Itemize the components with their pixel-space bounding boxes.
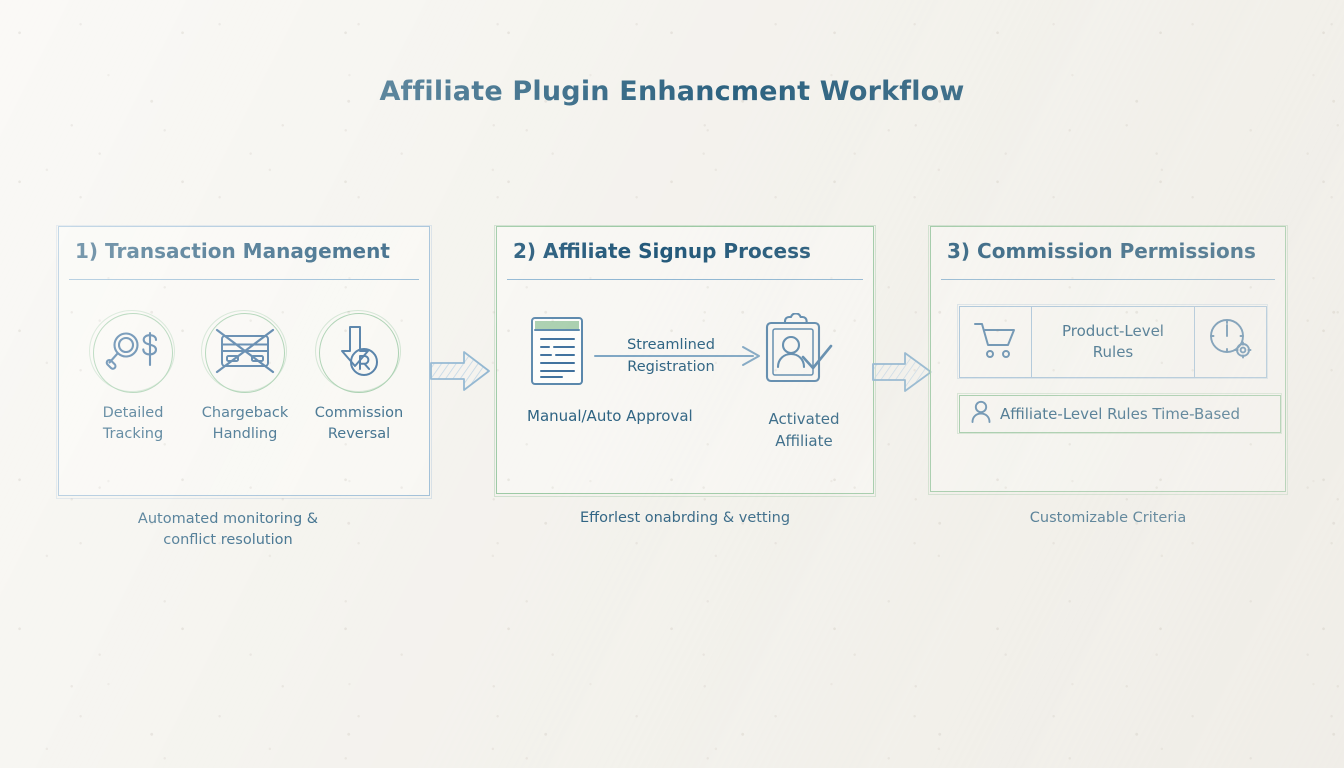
shopping-cart-icon [973, 320, 1019, 364]
icon-badge [93, 313, 173, 393]
panel-title: 3) Commission Permissions [947, 239, 1256, 263]
arrow-inner-right-icon [593, 345, 765, 371]
magnifier-dollar-icon [105, 328, 161, 378]
product-level-rules-row: Product-Level Rules [959, 306, 1267, 378]
shopping-cart-cell [960, 307, 1032, 377]
panel-commission-permissions: 3) Commission Permissions Product-Level … [930, 226, 1286, 492]
feature-label: Detailed Tracking [81, 403, 185, 444]
feature-label-line1: Detailed [103, 405, 164, 421]
target-label-activated-affiliate: Activated Affiliate [749, 409, 859, 453]
panel-header-divider [941, 279, 1275, 280]
panel-header-divider [69, 279, 419, 280]
clock-gear-icon [1206, 317, 1256, 367]
feature-label: Chargeback Handling [193, 403, 297, 444]
arrow-down-reversal-icon [333, 324, 385, 382]
card-crossed-out-icon [214, 326, 276, 380]
feature-label-line2: Reversal [328, 426, 390, 442]
panel-affiliate-signup-process: 2) Affiliate Signup Process Streamlined … [496, 226, 874, 494]
target-label-line2: Affiliate [775, 432, 832, 450]
caption-affiliate-signup-process: Efforlest onabrding & vetting [496, 508, 874, 529]
affiliate-level-rules-row: Affiliate-Level Rules Time-Based [959, 395, 1281, 433]
clock-gear-cell [1194, 307, 1266, 377]
feature-label-line2: Handling [213, 426, 278, 442]
feature-label-line1: Commission [315, 405, 403, 421]
affiliate-level-rules-label: Affiliate-Level Rules Time-Based [1000, 405, 1240, 423]
caption-text: Customizable Criteria [1030, 510, 1186, 526]
person-icon [970, 400, 992, 428]
panel-title: 1) Transaction Management [75, 239, 390, 263]
panel-transaction-management: 1) Transaction Management Detailed Track… [58, 226, 430, 496]
feature-label: Commission Reversal [307, 403, 411, 444]
registration-document-icon [529, 315, 585, 391]
icon-badge [319, 313, 399, 393]
icon-badge [205, 313, 285, 393]
clipboard-person-check-icon [761, 313, 835, 393]
feature-commission-reversal: Commission Reversal [307, 313, 411, 444]
caption-line2: conflict resolution [163, 532, 292, 548]
flow-arrow-panel2-to-panel3 [872, 350, 934, 394]
caption-transaction-management: Automated monitoring & conflict resoluti… [58, 509, 398, 551]
product-level-rules-line2: Rules [1093, 343, 1133, 361]
product-level-rules-line1: Product-Level [1062, 322, 1164, 340]
feature-label-line2: Tracking [103, 426, 163, 442]
caption-line1: Automated monitoring & [138, 511, 318, 527]
product-level-rules-label: Product-Level Rules [1032, 307, 1194, 377]
source-label-manual-auto-approval: Manual/Auto Approval [527, 407, 693, 425]
caption-commission-permissions: Customizable Criteria [930, 508, 1286, 529]
target-label-line1: Activated [769, 410, 840, 428]
feature-chargeback-handling: Chargeback Handling [193, 313, 297, 444]
feature-label-line1: Chargeback [202, 405, 289, 421]
panel-header-divider [507, 279, 863, 280]
feature-detailed-tracking: Detailed Tracking [81, 313, 185, 444]
source-label-text: Manual/Auto Approval [527, 407, 693, 425]
page-title: Affiliate Plugin Enhancment Workflow [0, 76, 1344, 107]
caption-text: Efforlest onabrding & vetting [580, 510, 790, 526]
panel-title: 2) Affiliate Signup Process [513, 239, 811, 263]
flow-arrow-panel1-to-panel2 [430, 348, 492, 394]
